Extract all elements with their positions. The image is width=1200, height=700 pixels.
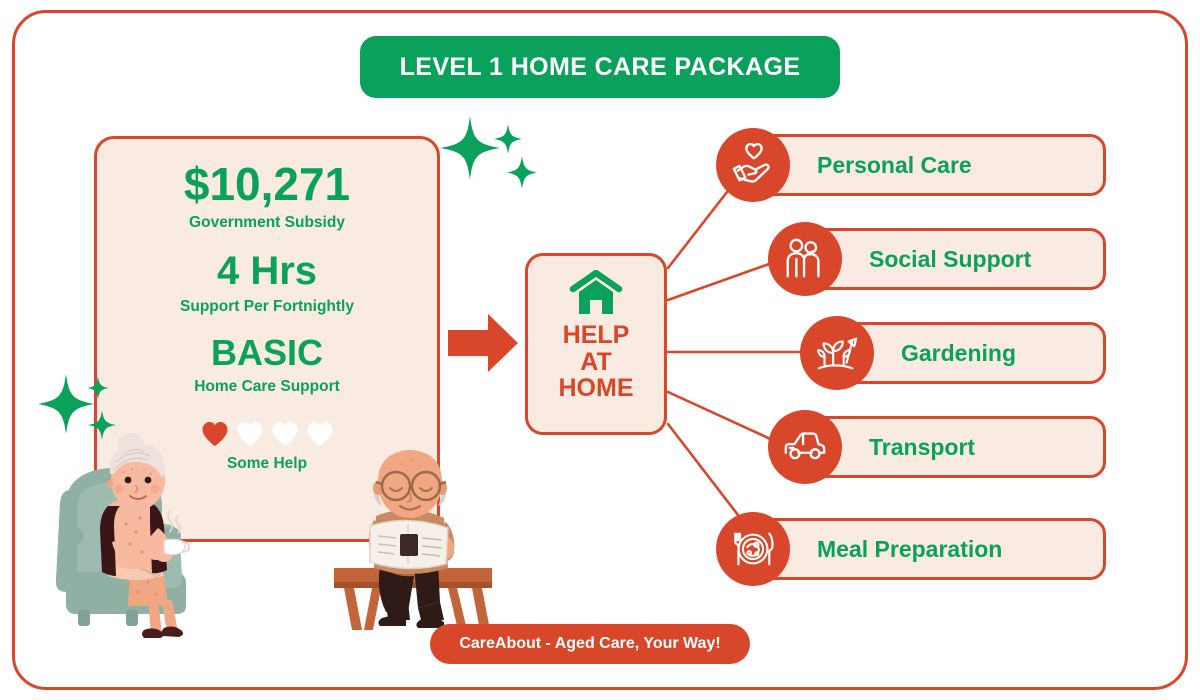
service-label: Meal Preparation [817, 536, 1002, 563]
service-row-meal-preparation[interactable]: Meal Preparation [716, 518, 1106, 580]
hand-holding-heart-icon [716, 128, 790, 202]
service-pill[interactable]: Social Support [810, 228, 1106, 290]
plate-fork-knife-icon [716, 512, 790, 586]
service-label: Gardening [901, 340, 1016, 367]
service-label: Personal Care [817, 152, 972, 179]
service-row-gardening[interactable]: Gardening [800, 322, 1106, 384]
hub-line-2: AT [559, 349, 634, 376]
sparkles-top-right-icon [436, 112, 546, 208]
home-icon [569, 270, 623, 316]
elderly-woman-in-armchair-with-teacup-illustration [52, 432, 282, 647]
hours-value: 4 Hrs [97, 251, 437, 291]
elderly-man-reading-newspaper-on-bench-illustration [320, 438, 506, 634]
hub-label: HELP AT HOME [559, 322, 634, 402]
car-icon [768, 410, 842, 484]
page-title: LEVEL 1 HOME CARE PACKAGE [400, 53, 801, 82]
plants-shovel-icon [800, 316, 874, 390]
arrow-right-icon [448, 312, 520, 374]
service-pill[interactable]: Personal Care [758, 134, 1106, 196]
service-label: Social Support [869, 246, 1031, 273]
infographic-canvas: LEVEL 1 HOME CARE PACKAGE $10,271 Govern… [0, 0, 1200, 700]
level-value: BASIC [97, 335, 437, 371]
service-pill[interactable]: Meal Preparation [758, 518, 1106, 580]
service-row-social-support[interactable]: Social Support [768, 228, 1106, 290]
hub-line-1: HELP [559, 322, 634, 349]
subsidy-value: $10,271 [97, 161, 437, 207]
footer-text: CareAbout - Aged Care, Your Way! [459, 635, 720, 653]
service-pill[interactable]: Transport [810, 416, 1106, 478]
footer-badge: CareAbout - Aged Care, Your Way! [430, 624, 750, 664]
stat-support-hours: 4 Hrs Support Per Fortnightly [97, 251, 437, 316]
header-banner: LEVEL 1 HOME CARE PACKAGE [360, 36, 840, 98]
hub-line-3: HOME [559, 375, 634, 402]
two-people-embrace-icon [768, 222, 842, 296]
service-pill[interactable]: Gardening [842, 322, 1106, 384]
level-label: Home Care Support [97, 378, 437, 396]
stat-government-subsidy: $10,271 Government Subsidy [97, 161, 437, 232]
service-row-transport[interactable]: Transport [768, 416, 1106, 478]
hours-label: Support Per Fortnightly [97, 298, 437, 316]
help-at-home-hub: HELP AT HOME [525, 253, 667, 435]
service-label: Transport [869, 434, 975, 461]
service-row-personal-care[interactable]: Personal Care [716, 134, 1106, 196]
stat-care-level: BASIC Home Care Support [97, 335, 437, 396]
subsidy-label: Government Subsidy [97, 214, 437, 232]
